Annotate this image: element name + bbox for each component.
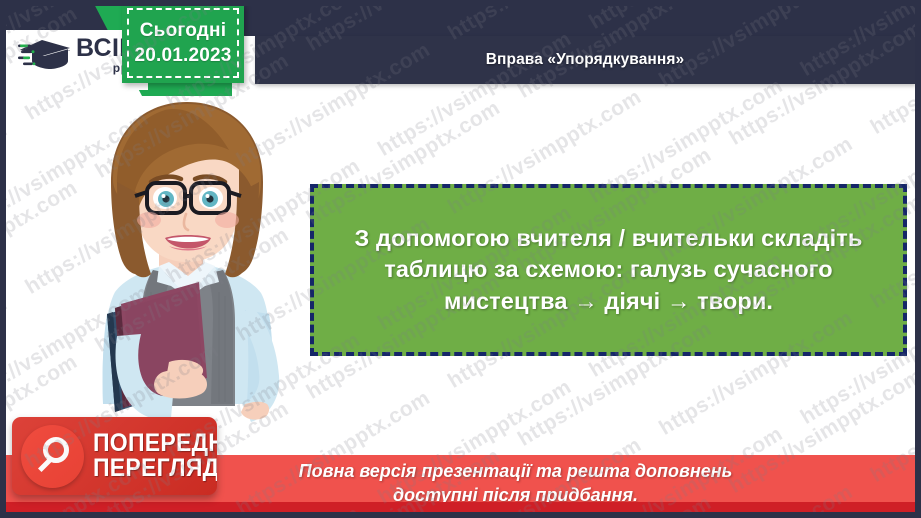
teacher-illustration [55,86,320,446]
preview-badge-line-1: ПОПЕРЕДНІЙ [93,431,217,457]
magnifier-icon [21,425,84,488]
banner-bottom-strip [6,502,915,512]
date-badge-label: Сьогодні [140,18,226,43]
slide-canvas: ВСІМ pptx Сьогодні 20.01.2023 Вправа «Уп… [0,0,921,518]
exercise-instruction-box: З допомогою вчителя / вчительки складіть… [310,184,907,356]
exercise-instruction-text: З допомогою вчителя / вчительки складіть… [330,223,887,317]
page-title: Вправа «Упорядкування» [486,51,684,69]
slide-header-bar: Вправа «Упорядкування» [255,36,915,84]
purchase-notice-line-1: Повна версія презентації та решта доповн… [299,461,733,481]
preview-badge[interactable]: ПОПЕРЕДНІЙ ПЕРЕГЛЯД [12,417,217,495]
graduation-cap-icon [18,34,74,76]
today-date-badge: Сьогодні 20.01.2023 [122,3,244,83]
purchase-notice-text: Повна версія презентації та решта доповн… [189,460,733,507]
date-badge-value: 20.01.2023 [134,43,231,68]
preview-badge-line-2: ПЕРЕГЛЯД [93,456,217,482]
